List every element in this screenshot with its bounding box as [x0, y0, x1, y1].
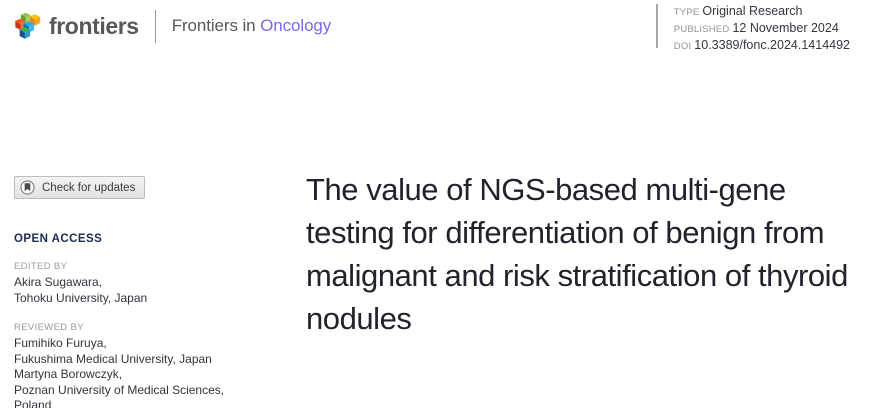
check-for-updates-button[interactable]: Check for updates — [14, 176, 145, 199]
reviewed-by-group: REVIEWED BY Fumihiko Furuya, Fukushima M… — [14, 322, 246, 408]
type-label: TYPE — [674, 7, 700, 18]
metadata-row-published: PUBLISHED12 November 2024 — [674, 21, 850, 37]
reviewed-by-line: Poland — [14, 398, 246, 408]
published-label: PUBLISHED — [674, 24, 730, 35]
metadata-row-doi: DOI10.3389/fonc.2024.1414492 — [674, 38, 850, 54]
brand-block[interactable]: frontiers Frontiers in Oncology — [14, 9, 331, 43]
reviewed-by-line: Martyna Borowczyk, — [14, 367, 246, 383]
type-value: Original Research — [702, 4, 802, 18]
crossmark-check-for-updates-icon — [20, 180, 35, 195]
published-value: 12 November 2024 — [732, 21, 838, 35]
edited-by-label: EDITED BY — [14, 261, 246, 272]
edited-by-line: Akira Sugawara, — [14, 275, 246, 291]
doi-label: DOI — [674, 41, 692, 52]
article-header-page: frontiers Frontiers in Oncology TYPEOrig… — [0, 0, 874, 408]
journal-name[interactable]: Frontiers in Oncology — [172, 16, 331, 36]
reviewed-by-label: REVIEWED BY — [14, 322, 246, 333]
journal-prefix: Frontiers in — [172, 16, 260, 35]
article-metadata: TYPEOriginal Research PUBLISHED12 Novemb… — [656, 4, 850, 55]
masthead-divider-icon — [155, 10, 156, 43]
reviewed-by-line: Poznan University of Medical Sciences, — [14, 383, 246, 399]
edited-by-line: Tohoku University, Japan — [14, 291, 246, 307]
doi-value[interactable]: 10.3389/fonc.2024.1414492 — [694, 38, 850, 52]
sidebar: Check for updates OPEN ACCESS EDITED BY … — [14, 176, 246, 408]
page-title: The value of NGS-based multi-gene testin… — [306, 168, 851, 340]
reviewed-by-line: Fukushima Medical University, Japan — [14, 352, 246, 368]
journal-discipline-link[interactable]: Oncology — [260, 16, 331, 35]
frontiers-wordmark: frontiers — [49, 15, 139, 38]
frontiers-pinwheel-logo-icon — [14, 12, 42, 40]
edited-by-group: EDITED BY Akira Sugawara, Tohoku Univers… — [14, 261, 246, 306]
reviewed-by-line: Fumihiko Furuya, — [14, 336, 246, 352]
check-for-updates-label: Check for updates — [42, 182, 135, 194]
open-access-badge: OPEN ACCESS — [14, 233, 246, 245]
masthead: frontiers Frontiers in Oncology TYPEOrig… — [0, 0, 874, 60]
metadata-divider-icon — [656, 4, 658, 48]
metadata-row-type: TYPEOriginal Research — [674, 4, 850, 20]
